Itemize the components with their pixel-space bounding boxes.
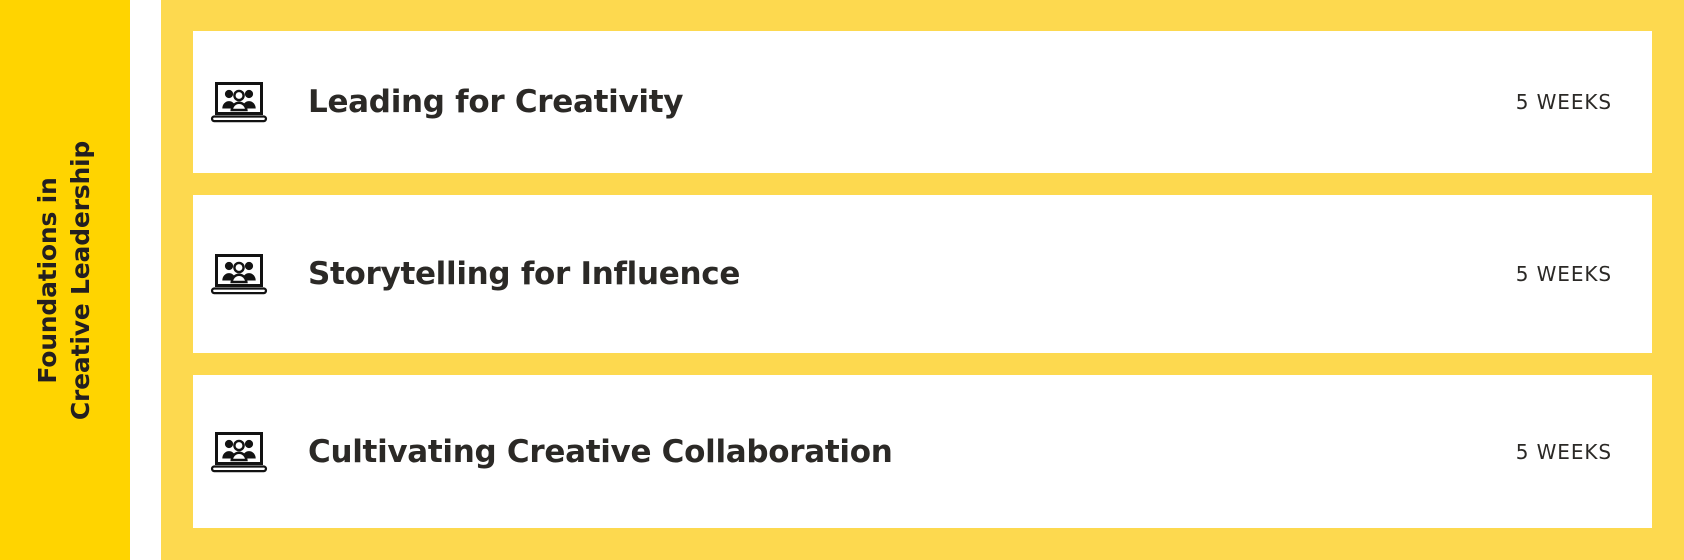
course-title: Storytelling for Influence [308,256,1516,292]
laptop-group-icon [210,431,268,473]
course-title: Cultivating Creative Collaboration [308,434,1516,470]
laptop-group-icon [210,81,268,123]
track-title-line-2: Creative Leadership [65,140,98,419]
course-list-panel: Leading for Creativity 5 WEEKS [161,0,1684,560]
course-track-panel: Foundations in Creative Leadership [0,0,1684,560]
track-title: Foundations in Creative Leadership [33,140,98,419]
course-duration: 5 WEEKS [1516,262,1612,286]
course-duration: 5 WEEKS [1516,440,1612,464]
course-duration: 5 WEEKS [1516,90,1612,114]
laptop-group-icon [210,253,268,295]
course-card[interactable]: Storytelling for Influence 5 WEEKS [193,195,1652,353]
track-category-band: Foundations in Creative Leadership [0,0,130,560]
course-card[interactable]: Cultivating Creative Collaboration 5 WEE… [193,375,1652,528]
course-title: Leading for Creativity [308,84,1516,120]
course-card[interactable]: Leading for Creativity 5 WEEKS [193,31,1652,173]
track-title-line-1: Foundations in [33,140,66,419]
